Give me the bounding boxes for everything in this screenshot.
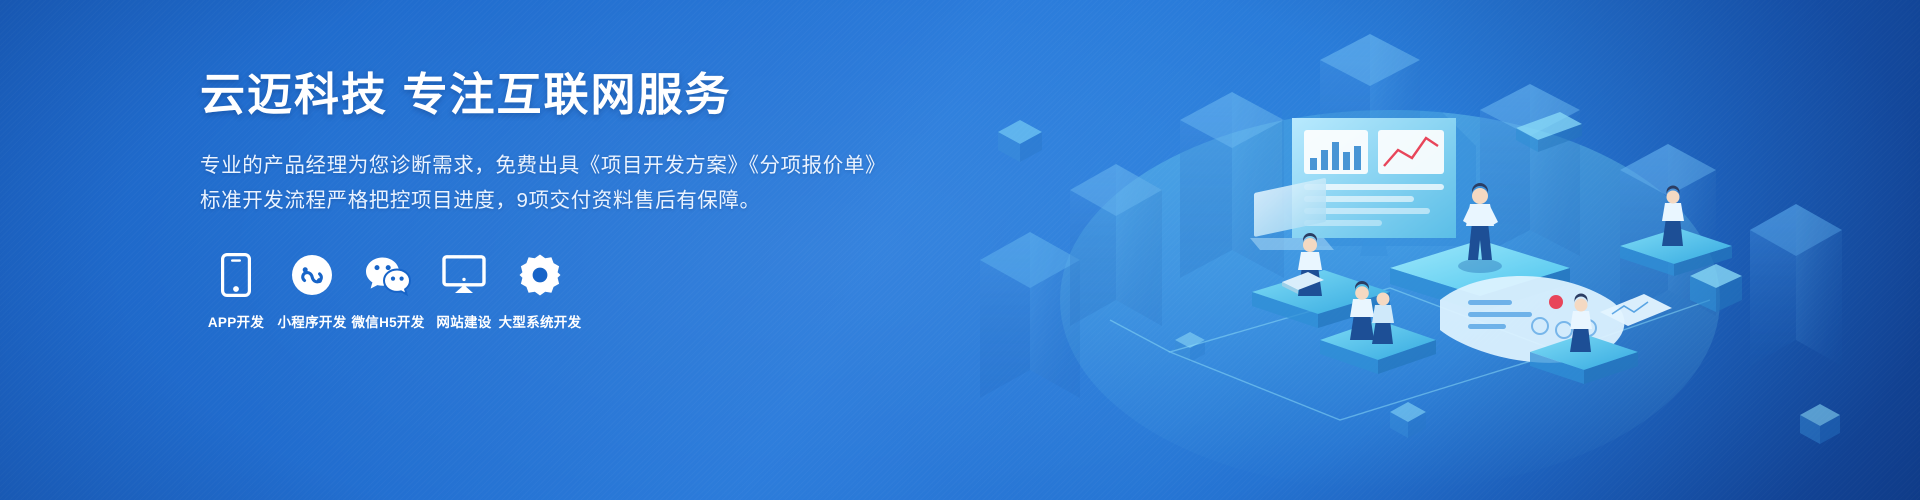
- person-on-platform-right: [1620, 186, 1742, 313]
- gear-icon: [519, 253, 561, 297]
- dashboard-screen: [1282, 110, 1476, 256]
- document-sheet: [1250, 178, 1334, 250]
- banner-content: 云迈科技 专注互联网服务 专业的产品经理为您诊断需求，免费出具《项目开发方案》《…: [200, 68, 900, 331]
- page-title: 云迈科技 专注互联网服务: [200, 68, 900, 122]
- service-label: 大型系统开发: [499, 311, 582, 331]
- service-list: APP开发 小程序开发: [200, 253, 900, 331]
- service-item-large-system[interactable]: 大型系统开发: [504, 253, 576, 331]
- person-with-tablet: [1320, 281, 1436, 374]
- banner-subtitle: 专业的产品经理为您诊断需求，免费出具《项目开发方案》《分项报价单》 标准开发流程…: [200, 148, 900, 219]
- seated-person-laptop: [1252, 233, 1390, 328]
- mini-chart-tile: [1600, 294, 1672, 326]
- service-label: 微信H5开发: [351, 311, 424, 331]
- mobile-phone-icon: [221, 253, 251, 297]
- data-chart-panel: [1440, 276, 1624, 363]
- standing-person-primary: [1390, 183, 1570, 312]
- person-front-right: [1530, 294, 1638, 385]
- subtitle-line-1: 专业的产品经理为您诊断需求，免费出具《项目开发方案》《分项报价单》: [200, 148, 900, 183]
- floating-ui-card: [1516, 112, 1582, 152]
- mini-program-icon: [291, 253, 333, 297]
- service-label: 小程序开发: [278, 311, 347, 331]
- service-item-website[interactable]: 网站建设: [428, 253, 500, 331]
- promo-banner: 云迈科技 专注互联网服务 专业的产品经理为您诊断需求，免费出具《项目开发方案》《…: [0, 0, 1920, 500]
- floating-cubes: [998, 120, 1840, 444]
- building-blocks-background: [980, 34, 1842, 398]
- monitor-icon: [442, 253, 486, 297]
- isometric-tech-teamwork-illustration: [920, 0, 1920, 500]
- wechat-icon: [364, 253, 412, 297]
- subtitle-line-2: 标准开发流程严格把控项目进度，9项交付资料售后有保障。: [200, 183, 900, 218]
- service-item-wechat-h5[interactable]: 微信H5开发: [352, 253, 424, 331]
- service-item-app[interactable]: APP开发: [200, 253, 272, 331]
- service-label: APP开发: [208, 311, 264, 331]
- service-label: 网站建设: [436, 311, 491, 331]
- service-item-miniprogram[interactable]: 小程序开发: [276, 253, 348, 331]
